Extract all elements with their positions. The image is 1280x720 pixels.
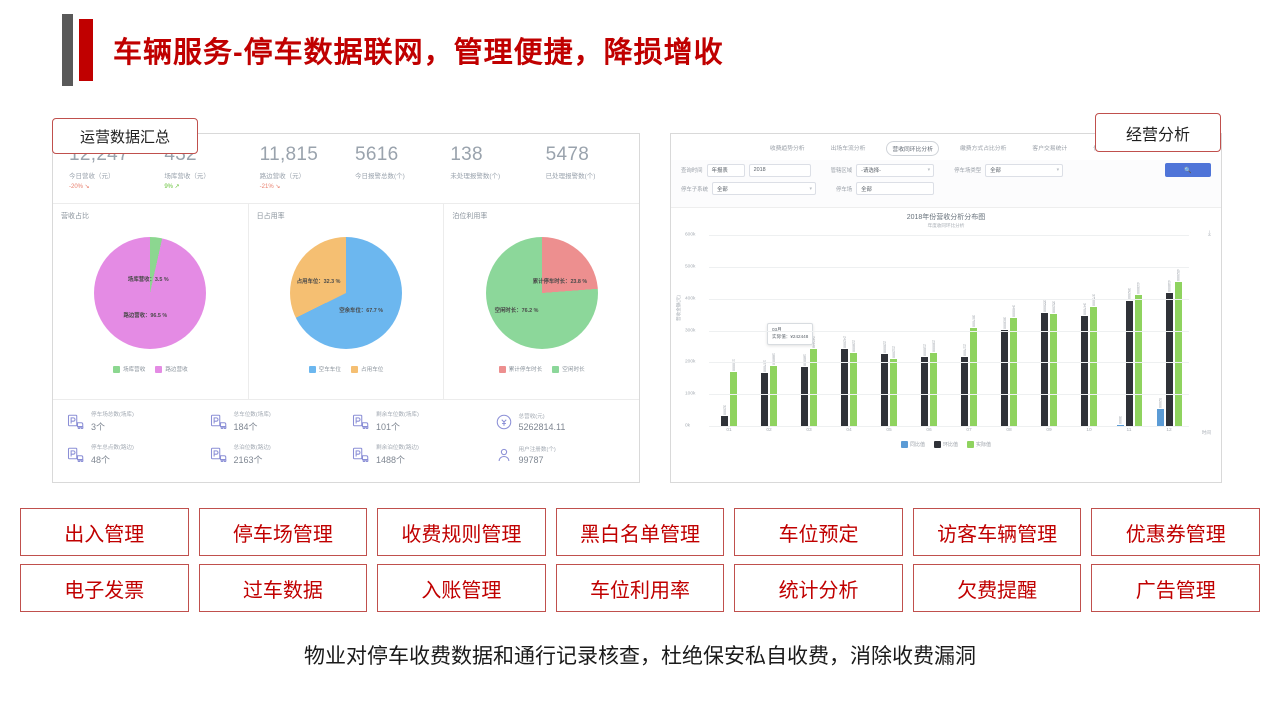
chart-bar-value: 186000 [803,354,807,366]
parking-icon [210,446,228,464]
filter-label-parking-lot: 停车场 [836,185,852,193]
chart-bar-value: 347000 [1083,303,1087,315]
module-button-访客车辆管理[interactable]: 访客车辆管理 [913,508,1082,556]
chart-x-tick: 06 [909,428,949,433]
filter-lot-type: 停车场类型 全部 ▾ [954,164,1063,177]
module-button-收费规则管理[interactable]: 收费规则管理 [377,508,546,556]
chart-plot-area: 营收金额(元) 时间 32000170000167000188000186000… [709,235,1189,427]
stat-value: 184个 [234,420,271,433]
pie-charts-row: 营收占比 场库营收：3.5 %路边营收：96.5 % 场库营收路边营收日占用率 … [53,204,639,400]
chart-bar-value: 242000 [843,336,847,348]
pie-legend: 空车车位占用车位 [257,365,436,373]
chart-bar-value: 216000 [923,344,927,356]
pie-legend-item: 累计停车时长 [499,365,543,373]
pie-slice-label: 累计停车时长：23.8 % [533,277,588,285]
kpi-label: 今日营收（元） [69,170,156,180]
slide-root: 车辆服务-停车数据联网，管理便捷，降损增收 12,247今日营收（元）-20% … [0,0,1280,720]
filter-value-lot-type: 全部 [990,166,1001,174]
pie-legend-item: 空车车位 [309,365,341,373]
operations-dashboard-panel: 12,247今日营收（元）-20% ↘432场库营收（元）9% ↗11,815路… [52,133,640,483]
kpi-label: 今日报警总数(个) [355,170,442,180]
callout-operations-summary: 运营数据汇总 [52,118,198,154]
pie-card: 营收占比 场库营收：3.5 %路边营收：96.5 % 场库营收路边营收 [53,204,249,399]
chart-bar: 413000 [1135,295,1142,426]
user-icon [495,446,513,464]
stat-label: 停车场总数(场库) [91,410,134,418]
chart-bar: 340000 [1010,318,1017,426]
stat-label: 用户注册数(个) [519,445,556,453]
stat-value: 99787 [519,455,556,465]
stat-item: 停车场总数(场库) 3个 [61,410,204,433]
stat-text: 停车总点数(路边) 48个 [91,443,134,466]
chart-legend-item[interactable]: 环比值 [934,441,958,448]
chart-y-tick: 100k [685,392,695,397]
tab-缴费方式占比分析[interactable]: 缴费方式占比分析 [955,141,1011,156]
stat-label: 总营收(元) [519,412,566,420]
chart-bar-value: 340000 [1012,305,1016,317]
money-icon [495,413,513,431]
filter-select-subsystem[interactable]: 全部 ▾ [712,182,816,195]
chart-tooltip: 03月 实际值：¥242448 [767,323,813,345]
filter-input-year[interactable]: 2018 [749,164,811,177]
chevron-down-icon: ▾ [809,186,812,192]
stat-item: 总车位数(场库) 184个 [204,410,347,433]
chart-x-tick: 05 [869,428,909,433]
module-button-欠费提醒[interactable]: 欠费提醒 [913,564,1082,612]
chart-bar: 52000 [1157,409,1164,426]
filter-select-region[interactable]: -请选择- ▾ [856,164,934,177]
chart-bar-value: 228000 [852,340,856,352]
filter-label-region: 管辖区域 [831,166,853,174]
filter-label-subsystem: 停车子系统 [681,185,708,193]
chevron-down-icon: ▾ [1057,167,1060,173]
footer-caption: 物业对停车收费数据和通行记录核查，杜绝保安私自收费，消除收费漏洞 [0,640,1280,670]
parking-icon [67,446,85,464]
pie-legend-item: 空闲时长 [552,365,584,373]
filter-input-period[interactable]: 年报表 [707,164,745,177]
stat-item: 用户注册数(个) 99787 [489,443,632,466]
parking-icon [352,413,370,431]
stat-label: 停车总点数(路边) [91,443,134,451]
tab-出场车流分析[interactable]: 出场车流分析 [826,141,871,156]
legend-swatch [155,366,162,373]
stat-value: 101个 [376,420,419,433]
module-button-出入管理[interactable]: 出入管理 [20,508,189,556]
chart-bar: 32000 [721,416,728,426]
filter-region: 管辖区域 -请选择- ▾ [831,164,935,177]
chart-bar-value: 230000 [932,340,936,352]
chart-bar-value: 413000 [1136,282,1140,294]
chart-title: 2018年份营收分析分布图 [679,212,1213,222]
revenue-bar-chart: 2018年份营收分析分布图 年度收同环比分析 ⤓ 营收金额(元) 时间 3200… [671,208,1221,453]
legend-swatch [309,366,316,373]
pie-wrap: 占用车位：32.3 %空余车位：67.7 % [257,223,436,363]
chart-bar: 242448 [810,349,817,426]
module-button-车位预定[interactable]: 车位预定 [734,508,903,556]
chart-bar: 217000 [961,357,968,426]
chart-bar: 347000 [1081,316,1088,426]
pie-legend-item: 路边营收 [155,365,187,373]
title-accent-gray [62,14,73,86]
kpi-card: 5478已处理报警数(个) [538,144,633,197]
tab-客户交易统计[interactable]: 客户交易统计 [1027,141,1072,156]
chart-gridline [709,299,1189,300]
pie-wrap: 场库营收：3.5 %路边营收：96.5 % [61,223,240,363]
kpi-label: 已处理报警数(个) [546,170,633,180]
chart-x-tick: 07 [949,428,989,433]
chart-bar: 307000 [970,328,977,426]
tab-收费趋势分析[interactable]: 收费趋势分析 [765,141,810,156]
stat-item: 停车总点数(路边) 48个 [61,443,204,466]
pie-slice-label: 占用车位：32.3 % [297,277,341,285]
stat-text: 总车位数(场库) 184个 [234,410,271,433]
filter-parking-lot: 停车场 全部 [836,182,934,195]
filter-subsystem: 停车子系统 全部 ▾ [681,182,816,195]
filter-row-2: 停车子系统 全部 ▾ 停车场 全部 [681,182,1211,195]
chart-bar: 228000 [850,353,857,426]
chart-bar-value: 170000 [732,359,736,371]
chart-gridline [709,267,1189,268]
parking-icon [210,413,228,431]
filter-input-parking-lot[interactable]: 全部 [856,182,934,195]
chart-gridline [709,426,1189,427]
chart-y-tick: 400k [685,296,695,301]
chart-subtitle: 年度收同环比分析 [679,223,1213,229]
chart-bar-value: 452000 [1176,269,1180,281]
chevron-down-icon: ▾ [928,167,931,173]
chart-bar: 186000 [801,367,808,426]
pie-graphic: 累计停车时长：23.8 %空闲时长：76.2 % [486,237,598,349]
chart-x-tick: 09 [1029,428,1069,433]
filter-select-lot-type[interactable]: 全部 ▾ [985,164,1063,177]
filter-label-query-time: 查询时间 [681,166,703,174]
chart-bar-value: 3000 [1118,416,1122,424]
chart-bar: 303000 [1001,330,1008,426]
pie-title: 营收占比 [61,211,240,221]
stat-item: 剩余车位数(场库) 101个 [346,410,489,433]
stat-text: 剩余车位数(场库) 101个 [376,410,419,433]
pie-card: 泊位利用率 累计停车时长：23.8 %空闲时长：76.2 % 累计停车时长空闲时… [444,204,639,399]
kpi-value: 138 [450,144,537,166]
module-button-黑白名单管理[interactable]: 黑白名单管理 [556,508,725,556]
module-button-入账管理[interactable]: 入账管理 [377,564,546,612]
kpi-card: 11,815路边营收（元）-21% ↘ [252,144,347,197]
chart-bar-value: 303000 [1003,317,1007,329]
business-analysis-panel: 收费趋势分析出场车流分析营收同环比分析缴费方式占比分析客户交易统计优惠券统计 查… [670,133,1222,483]
kpi-value: 5616 [355,144,442,166]
kpi-card: 138未处理报警数(个) [442,144,537,197]
chart-bar: 212000 [890,359,897,426]
kpi-change: -20% ↘ [69,183,156,190]
chart-bar: 167000 [761,373,768,426]
chart-bar-value: 32000 [723,405,727,415]
kpi-label: 场库营收（元） [164,170,251,180]
pie-slice-label: 空闲时长：76.2 % [495,306,539,314]
pie-graphic: 场库营收：3.5 %路边营收：96.5 % [94,237,206,349]
chart-bar-value: 418000 [1167,280,1171,292]
chart-bar: 188000 [770,366,777,426]
stat-item: 总营收(元) 5262814.11 [489,410,632,433]
chart-x-tick: 01 [709,428,749,433]
module-button-优惠券管理[interactable]: 优惠券管理 [1091,508,1260,556]
filter-row-1: 查询时间 年报表 2018 管辖区域 -请选择- ▾ 停车场类型 全部 ▾ [681,163,1211,177]
filter-value-subsystem: 全部 [717,185,728,193]
legend-swatch [499,366,506,373]
chart-gridline [709,235,1189,236]
stat-text: 剩余泊位数(路边) 1488个 [376,443,419,466]
tab-营收同环比分析[interactable]: 营收同环比分析 [886,141,939,156]
legend-swatch [351,366,358,373]
pie-wrap: 累计停车时长：23.8 %空闲时长：76.2 % [452,223,631,363]
pie-title: 泊位利用率 [452,211,631,221]
stat-label: 剩余泊位数(路边) [376,443,419,451]
chart-bar-value: 188000 [772,353,776,365]
page-title: 车辆服务-停车数据联网，管理便捷，降损增收 [113,29,724,71]
stat-label: 总车位数(场库) [234,410,271,418]
chart-bar: 375000 [1090,307,1097,426]
kpi-card: 5616今日报警总数(个) [347,144,442,197]
chart-legend-item[interactable]: 实际值 [967,441,991,448]
stat-text: 用户注册数(个) 99787 [519,445,556,465]
filter-value-region: -请选择- [861,166,881,174]
chart-x-ticks: 010203040506070809101112 [709,428,1189,433]
pie-slice-label: 场库营收：3.5 % [128,275,169,283]
chart-bar: 452000 [1175,282,1182,426]
kpi-change: 9% ↗ [164,183,251,190]
chart-x-tick: 12 [1149,428,1189,433]
chart-bar-value: 352000 [1052,301,1056,313]
search-button[interactable]: 🔍 [1165,163,1211,177]
title-accent-red [79,19,93,81]
chart-bar: 392000 [1126,301,1133,426]
chart-bar-value: 307000 [972,315,976,327]
chart-gridline [709,331,1189,332]
download-icon[interactable]: ⤓ [1208,230,1211,238]
chart-y-tick: 200k [685,360,695,365]
chart-x-tick: 08 [989,428,1029,433]
pie-legend: 累计停车时长空闲时长 [452,365,631,373]
chart-gridline [709,394,1189,395]
pie-graphic: 占用车位：32.3 %空余车位：67.7 % [290,237,402,349]
module-button-车位利用率[interactable]: 车位利用率 [556,564,725,612]
chart-x-tick: 02 [749,428,789,433]
chart-bar: 216000 [921,357,928,426]
chart-x-tick: 11 [1109,428,1149,433]
chart-bar: 226000 [881,354,888,426]
stat-label: 剩余车位数(场库) [376,410,419,418]
module-button-统计分析[interactable]: 统计分析 [734,564,903,612]
stat-text: 停车场总数(场库) 3个 [91,410,134,433]
kpi-value: 5478 [546,144,633,166]
pie-slice-label: 空余车位：67.7 % [339,306,383,314]
module-button-电子发票[interactable]: 电子发票 [20,564,189,612]
stat-label: 总泊位数(路边) [234,443,271,451]
parking-icon [352,446,370,464]
stat-item: 剩余泊位数(路边) 1488个 [346,443,489,466]
chart-y-tick: 300k [685,328,695,333]
chart-legend: 同比值环比值实际值 [679,441,1213,448]
filter-query-time: 查询时间 年报表 2018 [681,164,811,177]
chart-bar: 230000 [930,353,937,426]
legend-swatch [113,366,120,373]
stat-text: 总营收(元) 5262814.11 [519,412,566,432]
module-button-停车场管理[interactable]: 停车场管理 [199,508,368,556]
kpi-label: 路边营收（元） [260,170,347,180]
callout-business-analysis: 经营分析 [1095,113,1221,152]
slide-title-row: 车辆服务-停车数据联网，管理便捷，降损增收 [62,14,724,86]
pie-legend: 场库营收路边营收 [61,365,240,373]
legend-swatch [967,441,974,448]
chart-bar-value: 217000 [963,344,967,356]
pie-legend-item: 占用车位 [351,365,383,373]
stat-value: 1488个 [376,453,419,466]
parking-icon [67,413,85,431]
stat-value: 48个 [91,453,134,466]
chart-bar-value: 355000 [1043,300,1047,312]
chart-gridline [709,362,1189,363]
legend-swatch [552,366,559,373]
filter-label-lot-type: 停车场类型 [954,166,981,174]
chart-bar-value: 52000 [1158,398,1162,408]
pie-card: 日占用率 占用车位：32.3 %空余车位：67.7 % 空车车位占用车位 [249,204,445,399]
stat-value: 3个 [91,420,134,433]
chart-y-tick: 600k [685,233,695,238]
kpi-change: -21% ↘ [260,183,347,190]
chart-bar-value: 212000 [892,346,896,358]
stat-item: 总泊位数(路边) 2163个 [204,443,347,466]
stat-value: 5262814.11 [519,422,566,432]
stats-grid: 停车场总数(场库) 3个 总车位数(场库) 184个 剩余车位数(场库) 101… [53,400,639,476]
chart-x-tick: 10 [1069,428,1109,433]
kpi-label: 未处理报警数(个) [450,170,537,180]
stat-value: 2163个 [234,453,271,466]
tooltip-value: 实际值：¥242448 [772,334,808,341]
legend-swatch [934,441,941,448]
stat-text: 总泊位数(路边) 2163个 [234,443,271,466]
module-button-广告管理[interactable]: 广告管理 [1091,564,1260,612]
chart-bar: 418000 [1166,293,1173,426]
chart-bar: 242000 [841,349,848,426]
module-button-grid: 出入管理停车场管理收费规则管理黑白名单管理车位预定访客车辆管理优惠券管理电子发票… [20,508,1260,612]
chart-bar: 170000 [730,372,737,426]
kpi-value: 11,815 [260,144,347,166]
chart-x-axis-label: 时间 [1202,430,1211,436]
chart-legend-item[interactable]: 同比值 [901,441,925,448]
chart-y-tick: 0k [685,424,690,429]
chart-y-axis-label: 营收金额(元) [676,294,682,320]
legend-swatch [901,441,908,448]
chart-y-tick: 500k [685,264,695,269]
chart-x-tick: 04 [829,428,869,433]
chart-bar-value: 226000 [883,341,887,353]
pie-title: 日占用率 [257,211,436,221]
pie-legend-item: 场库营收 [113,365,145,373]
module-button-过车数据[interactable]: 过车数据 [199,564,368,612]
filter-toolbar: 查询时间 年报表 2018 管辖区域 -请选择- ▾ 停车场类型 全部 ▾ [671,160,1221,208]
pie-slice-label: 路边营收：96.5 % [123,311,167,319]
chart-x-tick: 03 [789,428,829,433]
